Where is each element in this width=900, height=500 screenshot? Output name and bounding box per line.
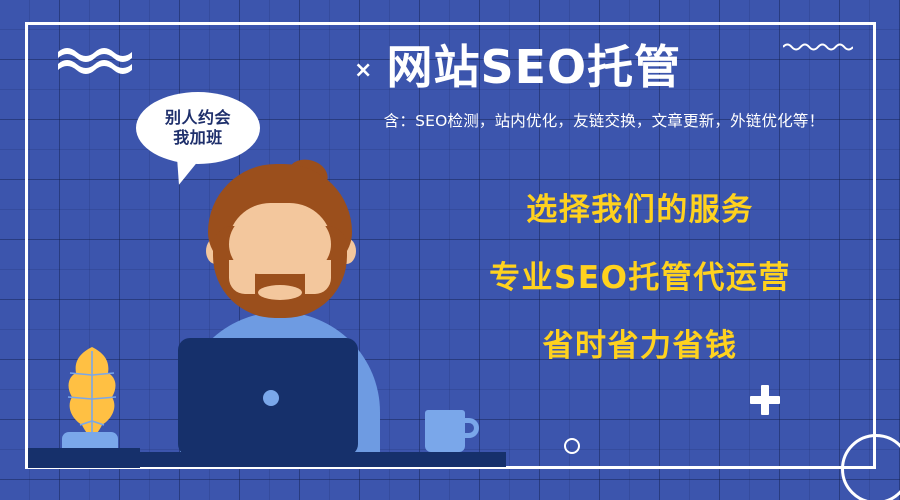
mouth: [258, 285, 302, 300]
seo-service-banner: × 网站SEO托管 含：SEO检测，站内优化，友链交换，文章更新，外链优化等！ …: [0, 0, 900, 500]
speech-bubble: 别人约会 我加班: [136, 92, 260, 164]
speech-bubble-line-1: 别人约会: [165, 108, 231, 128]
corner-circle-icon: [841, 434, 900, 500]
desk-surface: [28, 452, 506, 467]
plant-leaf-icon: [58, 347, 126, 439]
cheek-left: [229, 260, 255, 294]
plus-icon: [750, 385, 780, 415]
coffee-mug: [425, 410, 465, 452]
small-circle-icon: [564, 438, 580, 454]
laptop-logo-dot: [263, 390, 279, 406]
speech-bubble-line-2: 我加班: [173, 128, 223, 148]
